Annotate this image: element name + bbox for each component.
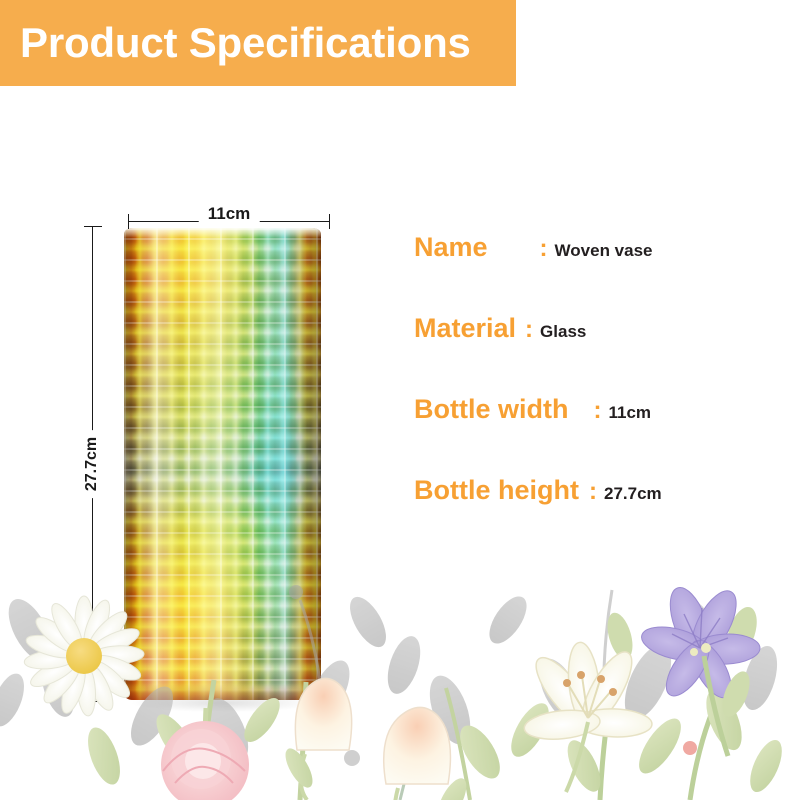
flower-white-lily xyxy=(523,641,653,792)
product-image-vase xyxy=(124,228,321,700)
specification-list: Name : Woven vase Material : Glass Bottl… xyxy=(414,232,784,556)
spec-row-bottle-height: Bottle height : 27.7cm xyxy=(414,475,784,556)
dimension-width-label: 11cm xyxy=(199,204,260,224)
flower-cream-tulip-right xyxy=(384,707,472,800)
spec-value-bottle-height: 27.7cm xyxy=(604,484,662,504)
dimension-width-cap-right xyxy=(329,214,330,229)
floral-border-decoration xyxy=(0,570,800,800)
spec-label-name: Name xyxy=(414,232,488,263)
spec-label-material: Material xyxy=(414,313,516,344)
spec-value-material: Glass xyxy=(540,322,586,342)
dimension-width-annotation: 11cm xyxy=(128,204,330,230)
page-title: Product Specifications xyxy=(20,22,471,64)
spec-colon-material: : xyxy=(518,316,540,344)
dimension-height-cap-bottom xyxy=(84,701,102,702)
flower-purple-bellflower xyxy=(638,583,760,756)
vase-glass-highlight xyxy=(124,228,321,700)
shadow-leaves xyxy=(0,585,784,768)
eucalyptus-sprig xyxy=(385,718,434,800)
spec-label-bottle-height: Bottle height xyxy=(414,475,579,506)
spec-value-bottle-width: 11cm xyxy=(608,403,651,423)
spec-value-name: Woven vase xyxy=(555,241,653,261)
vase-drop-shadow xyxy=(132,694,314,712)
spec-label-bottle-width: Bottle width xyxy=(414,394,568,425)
spec-row-bottle-width: Bottle width : 11cm xyxy=(414,394,784,475)
dimension-height-annotation: 27.7cm xyxy=(78,226,108,702)
dimension-height-cap-top xyxy=(84,226,102,227)
spec-colon-bottle-height: : xyxy=(582,478,604,506)
dimension-width-cap-left xyxy=(128,214,129,229)
header-banner: Product Specifications xyxy=(0,0,516,86)
product-specification-page: Product Specifications 11cm 27.7cm Name … xyxy=(0,0,800,800)
spec-row-material: Material : Glass xyxy=(414,313,784,394)
spec-colon-bottle-width: : xyxy=(586,397,608,425)
dimension-height-label: 27.7cm xyxy=(79,430,105,498)
spec-row-name: Name : Woven vase xyxy=(414,232,784,313)
flower-pink-rose xyxy=(161,721,249,800)
spec-colon-name: : xyxy=(533,235,555,263)
